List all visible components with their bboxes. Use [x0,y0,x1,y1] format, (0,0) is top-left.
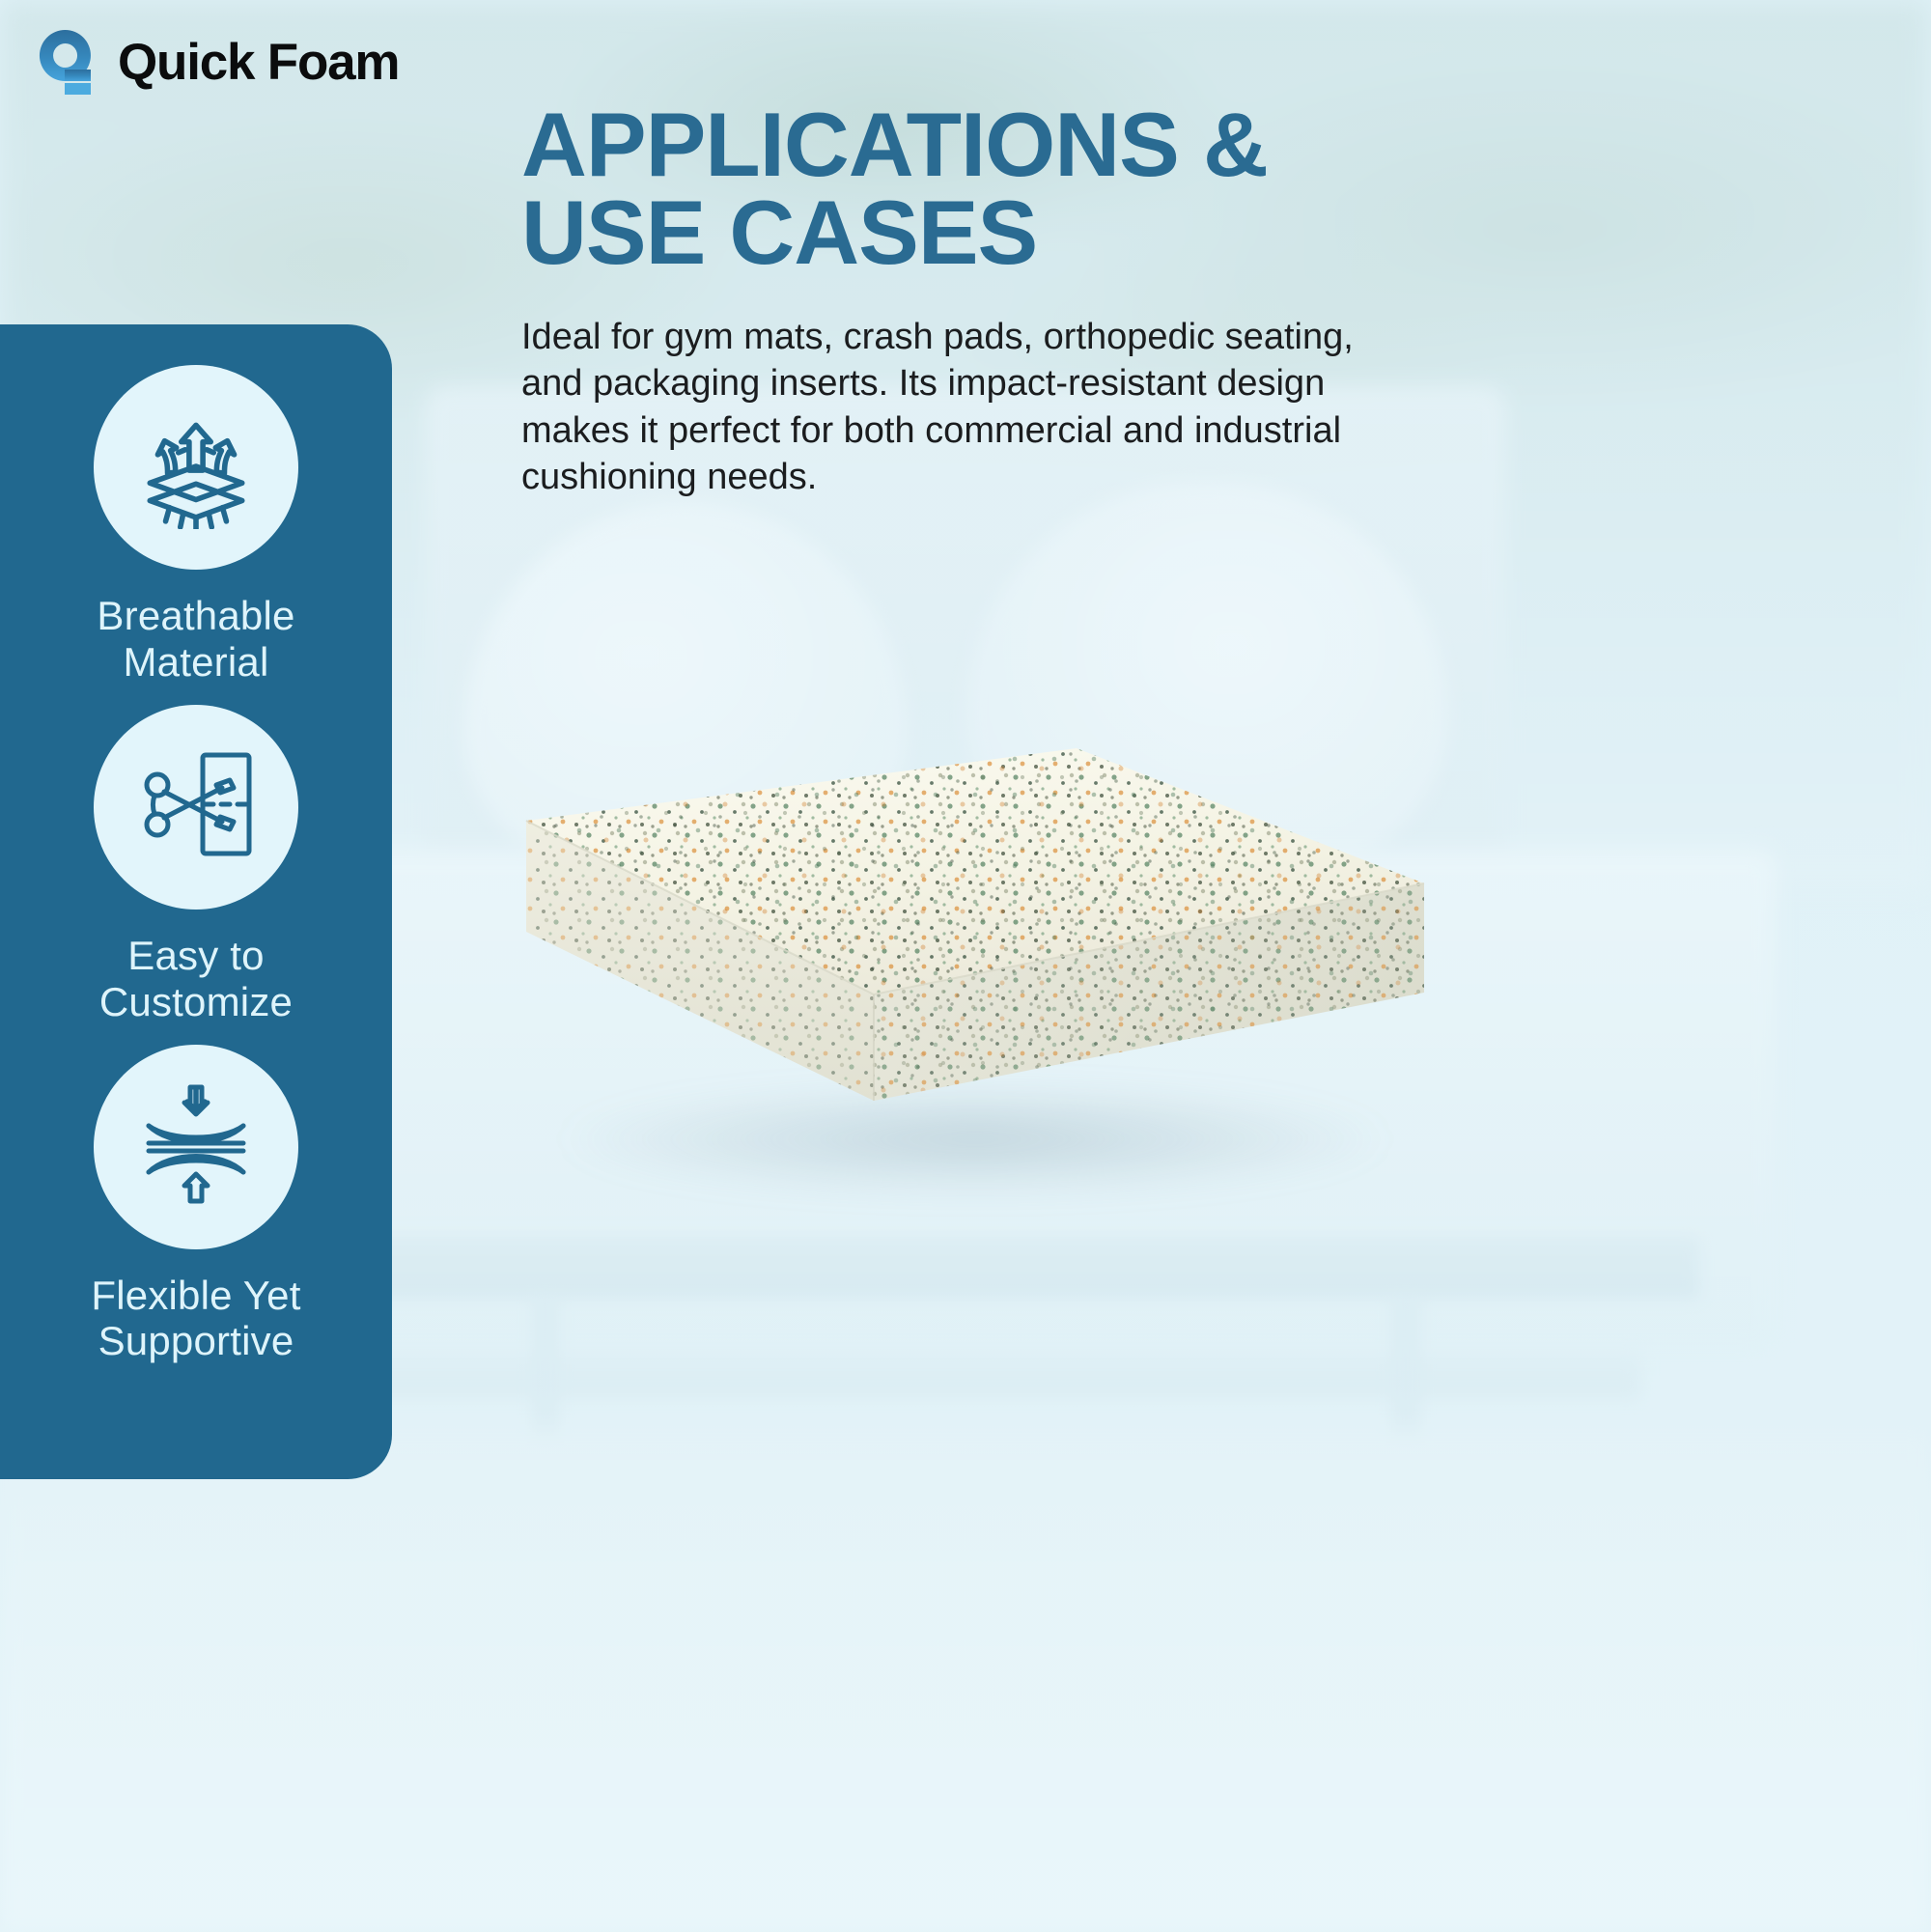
scissors-cut-dashed-line-icon [133,742,259,872]
feature-icon-circle [94,705,298,910]
compression-flex-arrows-icon [133,1081,259,1212]
feature-label-line-1: Easy to [127,933,264,978]
feature-label: Breathable Material [97,593,294,686]
feature-icon-circle [94,1045,298,1249]
intro-paragraph: Ideal for gym mats, crash pads, orthoped… [521,314,1405,500]
feature-label-line-1: Breathable [97,593,294,638]
feature-item-breathable-material[interactable]: Breathable Material [0,365,392,686]
feature-label-line-2: Customize [99,979,293,1024]
feature-label-line-1: Flexible Yet [91,1273,300,1318]
feature-label-line-2: Material [124,639,269,685]
brand-logo[interactable]: Quick Foam [37,27,399,97]
speckled-foam-block [454,714,1429,1168]
page-title: APPLICATIONS & USE CASES [521,100,1583,276]
breathable-arrows-layers-icon [132,402,260,534]
feature-icon-circle [94,365,298,570]
feature-label-line-2: Supportive [98,1318,294,1363]
feature-sidebar: Breathable Material [0,324,392,1479]
feature-item-flexible-yet-supportive[interactable]: Flexible Yet Supportive [0,1045,392,1365]
feature-label: Flexible Yet Supportive [91,1273,300,1365]
page-title-line-2: USE CASES [521,182,1037,283]
feature-item-easy-to-customize[interactable]: Easy to Customize [0,705,392,1025]
feature-label: Easy to Customize [99,933,293,1025]
brand-name: Quick Foam [118,37,399,88]
quick-foam-q-mark-icon [37,27,100,97]
page-title-line-1: APPLICATIONS & [521,94,1268,195]
